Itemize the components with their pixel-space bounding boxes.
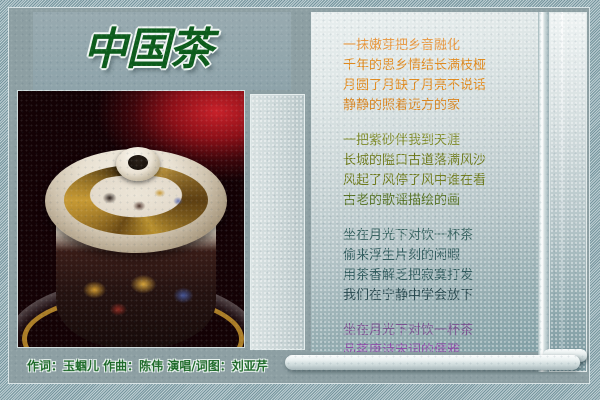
tea-photo bbox=[17, 90, 245, 348]
lyric-line: 风起了风停了风中谁在看 bbox=[343, 171, 543, 191]
page-title: 中国茶 bbox=[83, 22, 233, 78]
lyric-line: 静静的照着远方的家 bbox=[343, 96, 543, 116]
lyric-line: 长城的隘口古道落满风沙 bbox=[343, 151, 543, 171]
bottom-handle[interactable] bbox=[285, 355, 580, 370]
lyrics-text: 一抹嫩芽把乡音融化 千年的思乡情结长满枝桠 月圆了月缺了月亮不说话 静静的照着远… bbox=[343, 36, 543, 352]
lyrics-panel: 一抹嫩芽把乡音融化 千年的思乡情结长满枝桠 月圆了月缺了月亮不说话 静静的照着远… bbox=[311, 12, 547, 352]
lid-knob-hole bbox=[128, 155, 148, 170]
lyrics-stanza: 一把紫砂伴我到天涯 长城的隘口古道落满风沙 风起了风停了风中谁在看 古老的歌谣描… bbox=[343, 131, 543, 211]
divider-panel bbox=[250, 94, 305, 350]
lyrics-stanza: 坐在月光下对饮一杯茶 偷来浮生片刻的闲暇 用茶香解乏把寂寞打发 我们在宁静中学会… bbox=[343, 226, 543, 306]
lyric-line: 坐在月光下对饮一杯茶 bbox=[343, 321, 543, 341]
page-background: 中国茶 一抹嫩芽把乡音融化 千年的思乡情结 bbox=[0, 0, 600, 400]
main-panel: 中国茶 一抹嫩芽把乡音融化 千年的思乡情结 bbox=[8, 7, 590, 384]
lyric-line: 偷来浮生片刻的闲暇 bbox=[343, 246, 543, 266]
lyrics-stanza: 坐在月光下对饮一杯茶 品茗唐诗宋词的儒雅 洗去了浮华沉淀了年华 我们在时光中回味… bbox=[343, 321, 543, 352]
lyric-line: 古老的歌谣描绘的画 bbox=[343, 191, 543, 211]
chinese-tea-gaiwan-photo bbox=[18, 91, 244, 347]
lyric-line: 我们在宁静中学会放下 bbox=[343, 286, 543, 306]
lid-decoration bbox=[80, 175, 194, 225]
glass-seam bbox=[561, 12, 563, 368]
credits-bar: 作词：玉蝈儿 作曲：陈伟 演唱/词图：刘亚芹 bbox=[17, 353, 287, 381]
lyric-line: 一抹嫩芽把乡音融化 bbox=[343, 36, 543, 56]
lyric-line: 一把紫砂伴我到天涯 bbox=[343, 131, 543, 151]
lyric-line: 坐在月光下对饮一杯茶 bbox=[343, 226, 543, 246]
teacup-decoration bbox=[62, 259, 210, 329]
lyric-line: 月圆了月缺了月亮不说话 bbox=[343, 76, 543, 96]
glass-rail bbox=[538, 12, 549, 372]
lyrics-stanza: 一抹嫩芽把乡音融化 千年的思乡情结长满枝桠 月圆了月缺了月亮不说话 静静的照着远… bbox=[343, 36, 543, 116]
lyric-line: 品茗唐诗宋词的儒雅 bbox=[343, 341, 543, 352]
lyric-line: 千年的思乡情结长满枝桠 bbox=[343, 56, 543, 76]
right-glass-column bbox=[549, 12, 587, 372]
lyric-line: 用茶香解乏把寂寞打发 bbox=[343, 266, 543, 286]
credits-text: 作词：玉蝈儿 作曲：陈伟 演唱/词图：刘亚芹 bbox=[27, 358, 268, 374]
